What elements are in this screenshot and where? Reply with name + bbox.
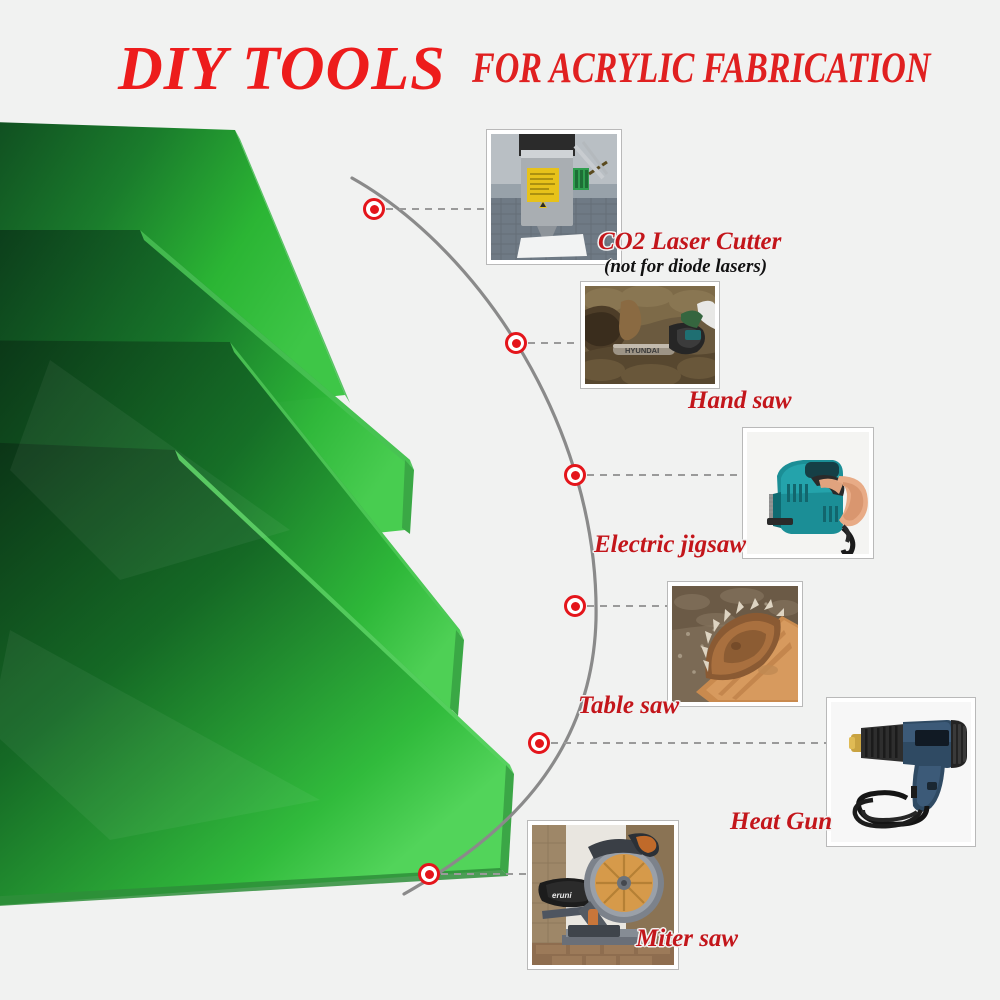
marker-miter-saw[interactable] [418, 863, 440, 885]
thumbnail-electric-jigsaw[interactable] [742, 427, 874, 559]
svg-text:eruni: eruni [552, 891, 572, 900]
marker-hand-saw[interactable] [505, 332, 527, 354]
label-hand-saw: Hand saw [688, 387, 792, 414]
sublabel-co2-laser-cutter: (not for diode lasers) [604, 256, 767, 277]
marker-electric-jigsaw[interactable] [564, 464, 586, 486]
jigsaw-image [747, 432, 869, 554]
marker-table-saw[interactable] [564, 595, 586, 617]
thumbnail-table-saw[interactable] [667, 581, 803, 707]
marker-co2-laser-cutter[interactable] [363, 198, 385, 220]
poster-canvas: DIY TOOLS FOR ACRYLIC FABRICATION [0, 0, 1000, 1000]
poster-header: DIY TOOLS FOR ACRYLIC FABRICATION [0, 38, 1000, 108]
circular-saw-blade-image [672, 586, 798, 702]
thumbnail-hand-saw[interactable]: HYUNDAI [580, 281, 720, 389]
label-electric-jigsaw: Electric jigsaw [594, 531, 746, 558]
label-co2-laser-cutter: CO2 Laser Cutter [598, 228, 781, 255]
label-miter-saw: Miter saw [636, 925, 738, 952]
acrylic-sheet-stack [0, 110, 570, 910]
page-subtitle: FOR ACRYLIC FABRICATION [472, 46, 930, 93]
svg-text:HYUNDAI: HYUNDAI [625, 346, 659, 355]
heat-gun-image [831, 702, 971, 842]
thumbnail-heat-gun[interactable] [826, 697, 976, 847]
marker-heat-gun[interactable] [528, 732, 550, 754]
page-title: DIY TOOLS [118, 38, 446, 100]
label-table-saw: Table saw [578, 692, 679, 719]
chainsaw-image: HYUNDAI [585, 286, 715, 384]
label-heat-gun: Heat Gun [730, 808, 832, 835]
